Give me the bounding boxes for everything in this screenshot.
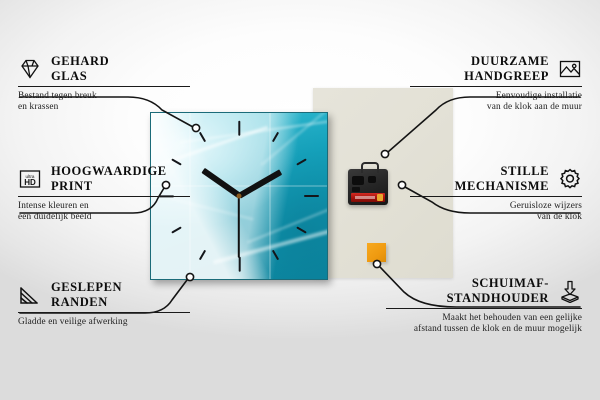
callout-title-line2: RANDEN [51, 295, 122, 310]
callout-schuimafstandhouder: SCHUIMAF- STANDHOUDER Maakt het behouden… [386, 276, 582, 336]
callout-divider [386, 308, 582, 309]
callout-divider [410, 86, 582, 87]
clock-tick-minor [171, 226, 182, 233]
callout-title-line2: GLAS [51, 69, 109, 84]
clock-second-hand [238, 196, 240, 258]
callout-gehard-glas: GEHARD GLAS Bestand tegen breuk en krass… [18, 54, 190, 114]
callout-title-line2: PRINT [51, 179, 167, 194]
callout-desc-line1: Bestand tegen breuk [18, 91, 190, 103]
callout-desc-line1: Gladde en veilige afwerking [18, 317, 190, 329]
diamond-icon [18, 57, 42, 81]
callout-desc-line2: van de klok [410, 212, 582, 224]
callout-desc-line1: Geruisloze wijzers [410, 201, 582, 213]
callout-title-line1: GESLEPEN [51, 280, 122, 295]
callout-desc-line2: en krassen [18, 102, 190, 114]
battery-label [355, 196, 375, 199]
callout-divider [18, 86, 190, 87]
mechanism-detail [368, 176, 376, 183]
callout-desc-line1: Intense kleuren en [18, 201, 190, 213]
clock-hour-hand [201, 169, 240, 199]
clock-tick-major [238, 120, 240, 135]
infographic-canvas: GEHARD GLAS Bestand tegen breuk en krass… [0, 0, 600, 400]
callout-desc-line1: Maakt het behouden van een gelijke [386, 313, 582, 325]
clock-tick-minor [199, 250, 206, 261]
callout-desc-line2: van de klok aan de muur [410, 102, 582, 114]
callout-divider [410, 196, 582, 197]
glass-reflection-line [269, 113, 271, 279]
picture-frame-icon [558, 57, 582, 81]
clock-tick-major [238, 257, 240, 272]
callout-title-line1: SCHUIMAF- [447, 276, 549, 291]
callout-desc-line2: afstand tussen de klok en de muur mogeli… [386, 324, 582, 336]
battery-terminal [377, 194, 383, 201]
clock-pivot [237, 194, 242, 199]
callout-title-line2: HANDGREEP [464, 69, 549, 84]
callout-hoogwaardige-print: ultra HD HOOGWAARDIGE PRINT Intense kleu… [18, 164, 190, 224]
spacer-arrow-icon [558, 279, 582, 303]
svg-text:HD: HD [24, 178, 36, 187]
battery [351, 193, 385, 202]
clock-tick-minor [296, 226, 307, 233]
callout-stille-mechanisme: STILLE MECHANISME Geruisloze wijzers van… [410, 164, 582, 224]
clock-tick-minor [272, 132, 279, 143]
ultra-hd-icon: ultra HD [18, 167, 42, 191]
callout-title-line2: STANDHOUDER [447, 291, 549, 306]
callout-title-line1: GEHARD [51, 54, 109, 69]
clock-tick-minor [296, 158, 307, 165]
clock-tick-major [304, 195, 319, 197]
callout-title-line1: HOOGWAARDIGE [51, 164, 167, 179]
callout-title-line1: DUURZAME [464, 54, 549, 69]
callout-title-line1: STILLE [455, 164, 549, 179]
callout-divider [18, 312, 190, 313]
mechanism-detail [352, 176, 364, 185]
callout-geslepen-randen: GESLEPEN RANDEN Gladde en veilige afwerk… [18, 280, 190, 328]
callout-divider [18, 196, 190, 197]
foam-spacer [367, 243, 386, 262]
callout-title-line2: MECHANISME [455, 179, 549, 194]
callout-desc-line2: een duidelijk beeld [18, 212, 190, 224]
clock-mechanism [348, 169, 388, 205]
gear-icon [558, 167, 582, 191]
hanger-hook-icon [361, 162, 379, 173]
beveled-edges-icon [18, 283, 42, 307]
callout-duurzame-handgreep: DUURZAME HANDGREEP Eenvoudige installati… [410, 54, 582, 114]
feather-streak [180, 121, 328, 144]
mechanism-detail [352, 187, 360, 192]
clock-minute-hand [238, 170, 282, 199]
callout-desc-line1: Eenvoudige installatie [410, 91, 582, 103]
clock-tick-minor [272, 250, 279, 261]
